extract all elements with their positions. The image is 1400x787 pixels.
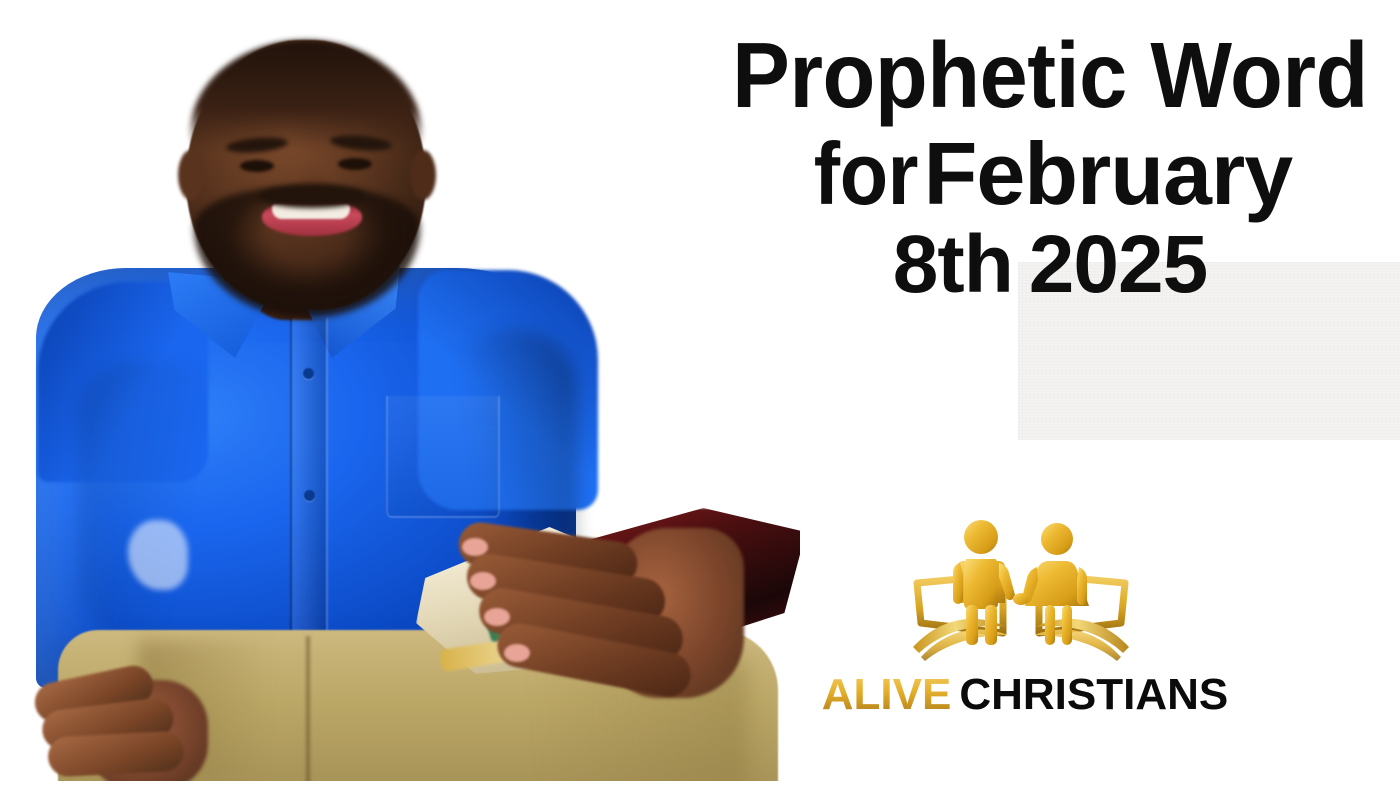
- shirt-button-middle: [304, 490, 315, 501]
- title-block: Prophetic Word for February 8th2025: [700, 28, 1400, 306]
- eye-right: [338, 158, 372, 170]
- title-line-1: Prophetic Word: [725, 28, 1376, 123]
- left-hand: [28, 672, 208, 787]
- title-word-year: 2025: [1029, 219, 1207, 310]
- thumbnail-canvas: Prophetic Word for February 8th2025: [0, 0, 1400, 787]
- logo-mark-icon: [911, 515, 1131, 675]
- right-fingernail-2: [470, 572, 496, 590]
- ear-left: [178, 150, 204, 200]
- shirt-fold-left: [78, 360, 228, 640]
- speaker-photo: [0, 0, 800, 787]
- photo-left-margin: [0, 0, 18, 787]
- title-line-2: for February: [700, 129, 1400, 219]
- speaker-photo-content: [18, 0, 800, 780]
- left-finger-3: [47, 730, 185, 777]
- eye-left: [240, 160, 274, 172]
- title-word-day: 8th: [893, 219, 1013, 310]
- title-word-for: for: [814, 129, 918, 219]
- title-line-3: 8th2025: [700, 223, 1400, 307]
- hair: [190, 40, 422, 150]
- shirt-button-top: [303, 368, 314, 379]
- ear-right: [410, 150, 436, 200]
- logo-wordmark: ALIVECHRISTIANS: [815, 673, 1235, 717]
- alive-christians-logo[interactable]: ALIVECHRISTIANS: [815, 515, 1235, 730]
- trousers-seam: [306, 636, 310, 786]
- joined-hands: [1013, 593, 1029, 605]
- right-fingernail-1: [462, 538, 488, 556]
- moustache: [258, 184, 366, 208]
- open-book-icon: [913, 575, 1129, 661]
- logo-word-christians: CHRISTIANS: [959, 670, 1228, 719]
- right-fingernail-3: [484, 608, 510, 626]
- right-hand: [448, 500, 738, 700]
- right-fingernail-4: [504, 644, 530, 662]
- title-word-month: February: [924, 124, 1293, 223]
- photo-bottom-margin: [0, 781, 800, 787]
- logo-word-alive: ALIVE: [822, 670, 952, 719]
